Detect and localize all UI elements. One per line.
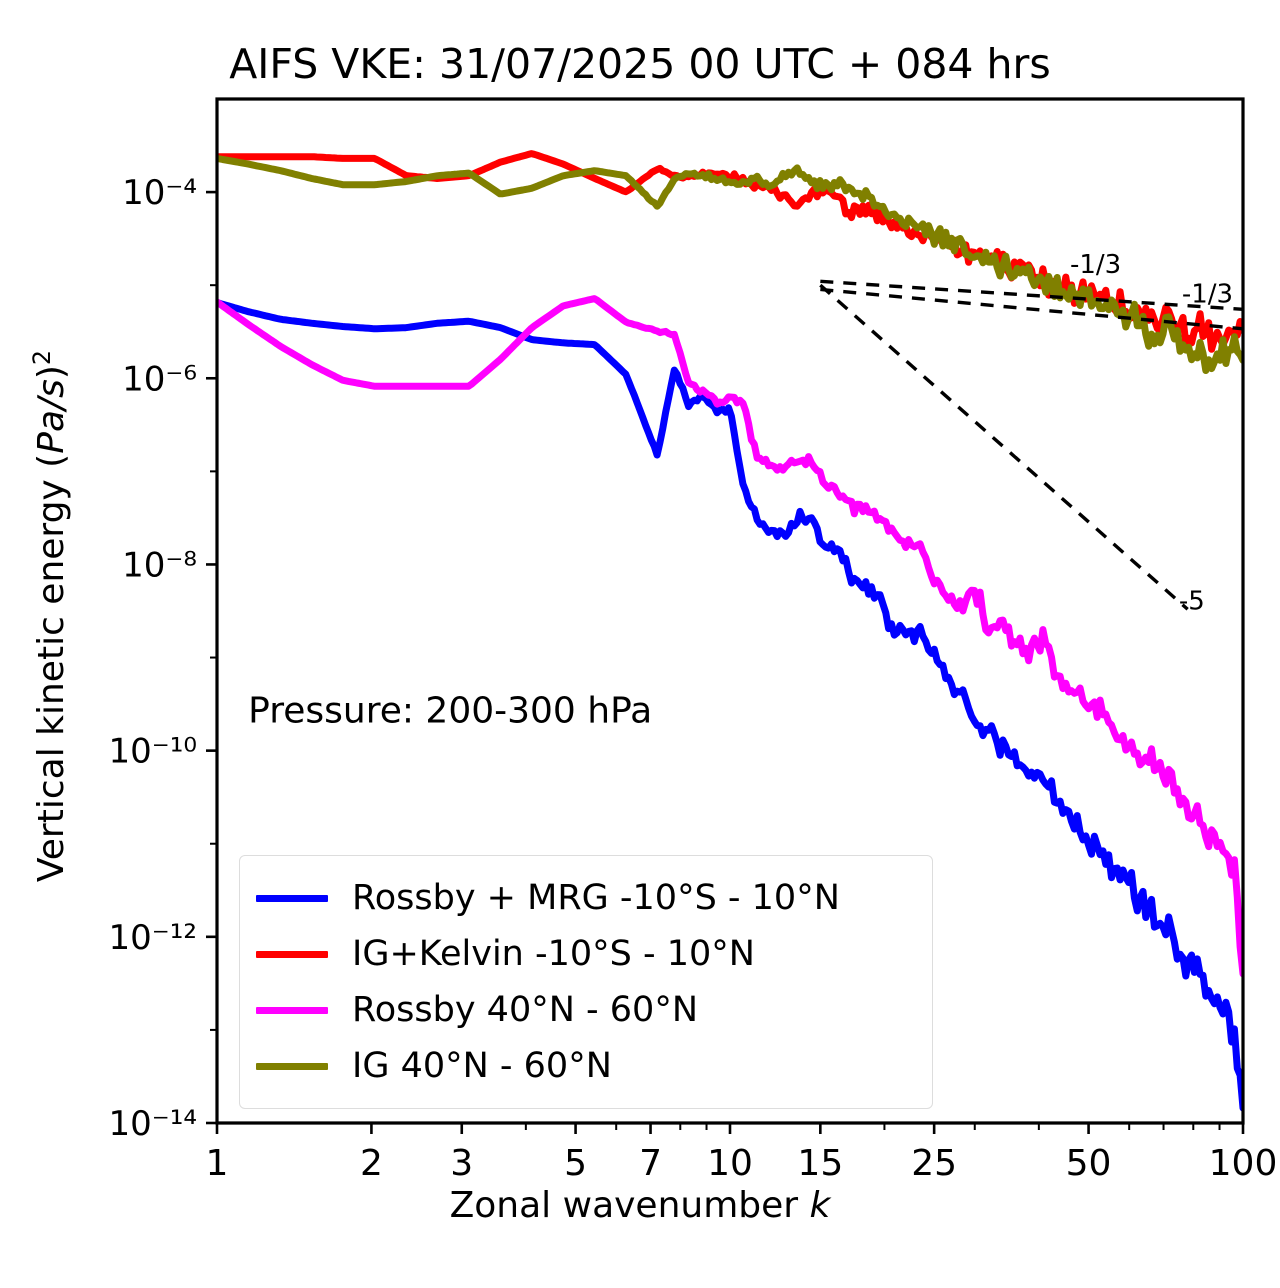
legend-label-0: Rossby + MRG -10°S - 10°N [352,881,840,916]
legend-swatch-3 [256,1063,328,1070]
annotation-slope-label-lower: -1/3 [1182,280,1233,310]
x-tick-label: 1 [206,1143,229,1184]
x-tick-label: 10 [707,1143,753,1184]
legend-item-1[interactable]: IG+Kelvin -10°S - 10°N [256,926,914,982]
legend-label-2: Rossby 40°N - 60°N [352,993,698,1028]
annotation-pressure-level: Pressure: 200-300 hPa [248,691,652,732]
y-tick-label: 10⁻⁴ [122,173,197,213]
legend-label-3: IG 40°N - 60°N [352,1049,612,1084]
annotations-layer: Pressure: 200-300 hPa-1/3-1/3-5 [248,250,1233,732]
x-tick-label: 100 [1209,1143,1278,1184]
annotation-slope-label-minus5: -5 [1179,586,1205,616]
slope-minus-five [820,285,1187,609]
x-tick-label: 2 [360,1143,383,1184]
y-tick-label: 10⁻⁸ [122,545,197,585]
y-tick-label: 10⁻¹⁰ [109,732,197,772]
annotation-slope-label-upper: -1/3 [1070,250,1121,280]
figure-canvas: AIFS VKE: 31/07/2025 00 UTC + 084 hrs Ve… [0,0,1280,1288]
x-tick-label: 5 [564,1143,587,1184]
y-tick-label: 10⁻¹⁴ [109,1104,197,1144]
y-tick-label: 10⁻⁶ [122,359,197,399]
legend: Rossby + MRG -10°S - 10°NIG+Kelvin -10°S… [239,855,933,1109]
legend-swatch-0 [256,895,328,902]
legend-swatch-1 [256,951,328,958]
y-tick-label: 10⁻¹² [109,918,197,958]
x-tick-label: 50 [1066,1143,1112,1184]
x-tick-label: 15 [797,1143,843,1184]
x-tick-label: 3 [450,1143,473,1184]
x-tick-label: 7 [639,1143,662,1184]
x-tick-label: 25 [911,1143,957,1184]
legend-item-2[interactable]: Rossby 40°N - 60°N [256,982,914,1038]
legend-label-1: IG+Kelvin -10°S - 10°N [352,937,755,972]
legend-item-3[interactable]: IG 40°N - 60°N [256,1038,914,1094]
legend-swatch-2 [256,1007,328,1014]
legend-item-0[interactable]: Rossby + MRG -10°S - 10°N [256,870,914,926]
